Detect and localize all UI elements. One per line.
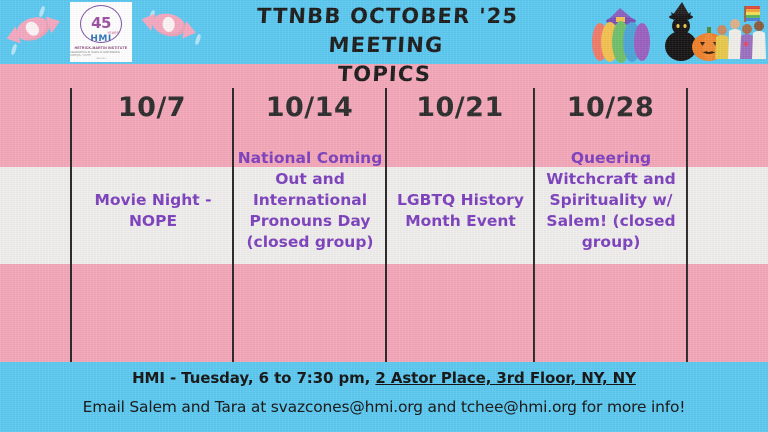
hmi-logo: 45 YEARS HMI HETRICK-MARTIN INSTITUTE CE…: [70, 2, 132, 62]
candy-icon: [13, 13, 52, 44]
column-topic-3: LGBTQ History Month Event: [389, 190, 532, 232]
logo-anniversary-number: 45: [91, 16, 111, 31]
logo-org-name: HETRICK-MARTIN INSTITUTE: [75, 46, 128, 50]
logo-ring: 45 YEARS: [80, 5, 122, 43]
column-divider: [686, 88, 688, 362]
candy-icon: [150, 10, 188, 40]
pride-group-icon: [714, 4, 768, 62]
logo-years-label: YEARS: [107, 31, 119, 35]
title-line-1: TTNBB OCTOBER '25 MEETING: [256, 4, 519, 57]
footer-meeting-info: HMI - Tuesday, 6 to 7:30 pm, 2 Astor Pla…: [0, 369, 768, 387]
flag-stripe-pink-lower: [0, 264, 768, 362]
column-date-3: 10/21: [387, 92, 533, 123]
column-topic-1: Movie Night - NOPE: [78, 190, 228, 232]
footer-contact-info: Email Salem and Tara at svazcones@hmi.or…: [0, 398, 768, 416]
column-topic-2: National Coming Out and International Pr…: [236, 148, 384, 253]
column-topic-4: Queering Witchcraft and Spirituality w/ …: [537, 148, 685, 253]
page-title: TTNBB OCTOBER '25 MEETING TOPICS: [194, 2, 579, 89]
logo-url: HMI.ORG: [96, 58, 106, 60]
column-date-4: 10/28: [535, 92, 686, 123]
logo-tagline: CELEBRATING 45 YEARS OF EMPOWERING LGBTQ…: [70, 51, 132, 57]
column-date-2: 10/14: [234, 92, 385, 123]
column-divider: [70, 88, 72, 362]
header-band: 45 YEARS HMI HETRICK-MARTIN INSTITUTE CE…: [0, 0, 768, 64]
column-divider: [232, 88, 234, 362]
column-divider: [385, 88, 387, 362]
title-line-2: TOPICS: [194, 60, 576, 89]
column-date-1: 10/7: [72, 92, 232, 123]
footer-meeting-time: HMI - Tuesday, 6 to 7:30 pm,: [132, 369, 375, 387]
rainbow-pumpkin-icon: [588, 6, 654, 64]
column-divider: [533, 88, 535, 362]
poster-canvas: 45 YEARS HMI HETRICK-MARTIN INSTITUTE CE…: [0, 0, 768, 432]
footer-address: 2 Astor Place, 3rd Floor, NY, NY: [375, 369, 636, 387]
